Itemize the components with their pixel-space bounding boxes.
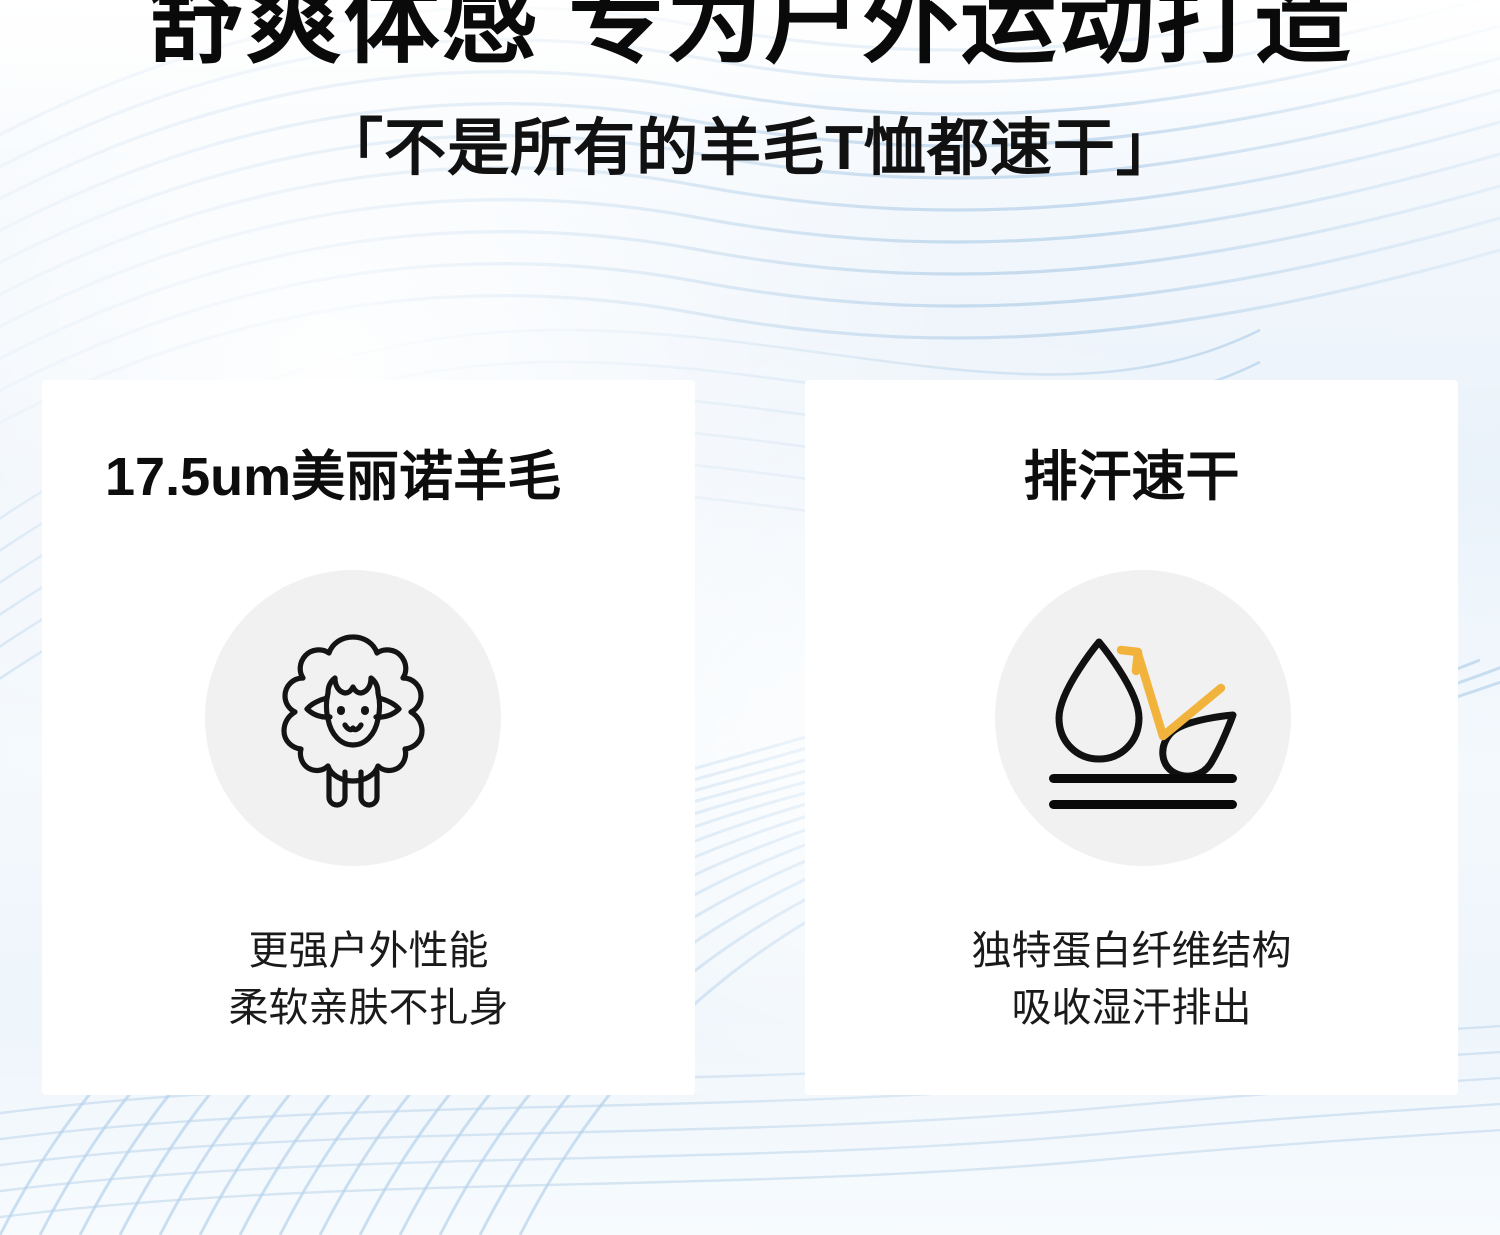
sheep-icon — [253, 620, 453, 816]
product-feature-banner: 舒爽体感 专为户外运动打造 「不是所有的羊毛T恤都速干」 17.5um美丽诺羊毛 — [0, 0, 1500, 1235]
feature-card-heading: 17.5um美丽诺羊毛 — [105, 432, 561, 511]
caption-line-1: 独特蛋白纤维结构 — [805, 923, 1458, 980]
caption-line-2: 柔软亲肤不扎身 — [42, 980, 695, 1037]
feature-card-heading: 排汗速干 — [805, 432, 1458, 511]
page-subtitle: 「不是所有的羊毛T恤都速干」 — [0, 118, 1500, 180]
large-droplet — [1059, 642, 1139, 759]
caption-line-2: 吸收湿汗排出 — [805, 980, 1458, 1037]
fabric-layer-1 — [1049, 774, 1237, 783]
feature-card-caption: 更强户外性能 柔软亲肤不扎身 — [42, 923, 695, 1037]
feature-card-quick-dry: 排汗速干 独特蛋白 — [805, 380, 1458, 1095]
feature-icon-container — [995, 570, 1291, 866]
moisture-wicking-icon — [1037, 618, 1249, 818]
page-title: 舒爽体感 专为户外运动打造 — [0, 0, 1500, 70]
fabric-layer-2 — [1049, 800, 1237, 809]
caption-line-1: 更强户外性能 — [42, 923, 695, 980]
feature-card-merino-wool: 17.5um美丽诺羊毛 — [42, 380, 695, 1095]
feature-icon-container — [205, 570, 501, 866]
feature-card-caption: 独特蛋白纤维结构 吸收湿汗排出 — [805, 923, 1458, 1037]
